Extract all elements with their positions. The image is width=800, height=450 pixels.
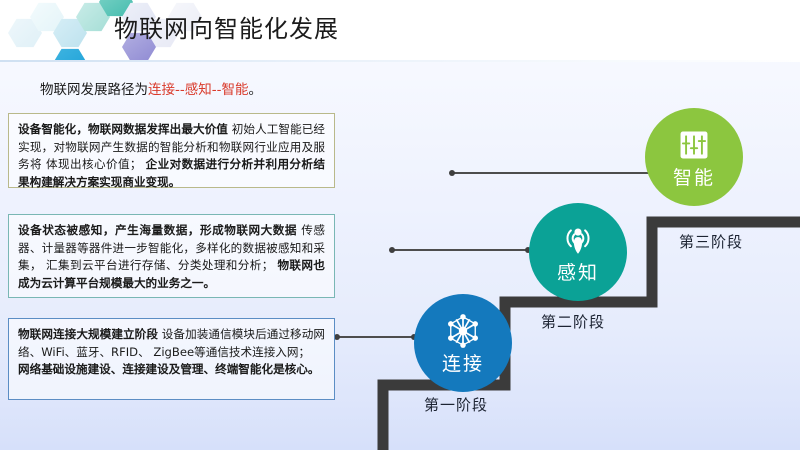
stage-circle-connect-label: 连接: [442, 353, 484, 375]
stage-circle-intelligent[interactable]: 智能: [645, 108, 743, 206]
info-box-intelligent: 设备智能化，物联网数据发挥出最大价值 初始人工智能已经实现，对物联网产生数据的智…: [8, 113, 335, 188]
info-box-connect-lead: 物联网连接大规模建立阶段: [18, 327, 158, 341]
slide-canvas: 物联网向智能化发展 物联网发展路径为连接--感知--智能。 设备智能化，物联网数…: [0, 0, 800, 450]
stage-circle-connect[interactable]: 连接: [414, 294, 512, 392]
stage-label-1: 第一阶段: [424, 395, 488, 415]
sensor-broadcast-icon: [558, 220, 598, 260]
info-box-perceive-lead: 设备状态被感知，产生海量数据，形成物联网大数据: [18, 223, 297, 237]
connector-dot-intelligent-start: [449, 170, 455, 176]
stage-circle-intelligent-label: 智能: [673, 167, 715, 189]
network-nodes-icon: [443, 311, 483, 351]
stage-label-2: 第二阶段: [541, 312, 605, 332]
info-box-connect-tail: 网络基础设施建设、连接建设及管理、终端智能化是核心。: [18, 362, 319, 376]
info-box-intelligent-lead: 设备智能化，物联网数据发挥出最大价值: [18, 122, 228, 136]
info-box-perceive: 设备状态被感知，产生海量数据，形成物联网大数据 传感器、计量器等器件进一步智能化…: [8, 214, 335, 298]
info-box-connect: 物联网连接大规模建立阶段 设备加装通信模块后通过移动网络、WiFi、蓝牙、RFI…: [8, 318, 335, 400]
chip-icon: [674, 125, 714, 165]
connector-line-intelligent: [452, 172, 662, 174]
stage-label-3: 第三阶段: [679, 232, 743, 252]
connector-line-perceive: [392, 249, 529, 251]
stage-circle-perceive-label: 感知: [557, 262, 599, 284]
connector-line-connect: [337, 336, 415, 338]
stage-circle-perceive[interactable]: 感知: [529, 203, 627, 301]
connector-dot-perceive-start: [389, 247, 395, 253]
